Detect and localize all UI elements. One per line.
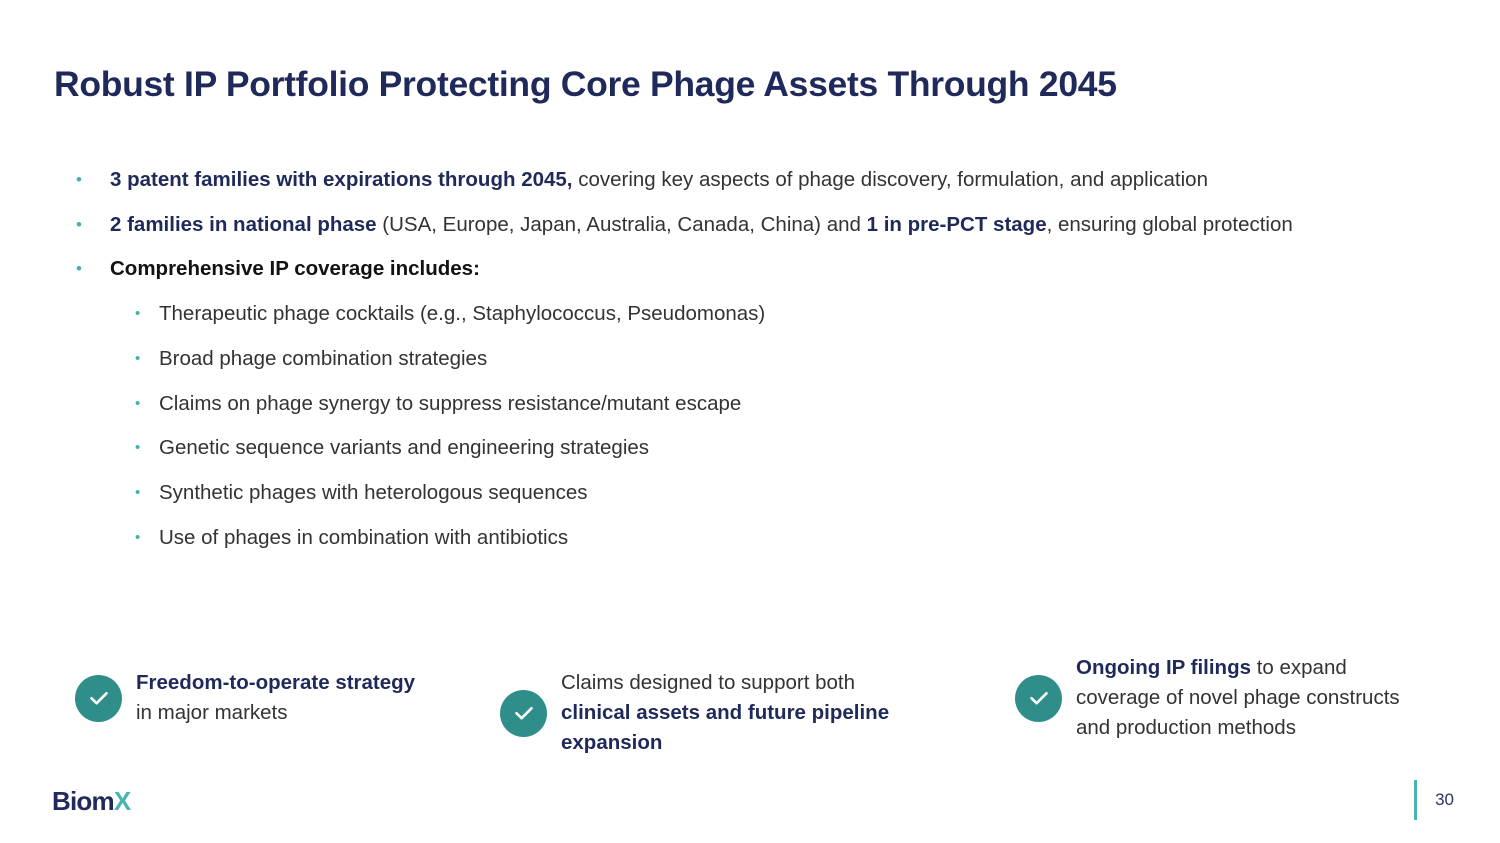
check-icon bbox=[500, 690, 547, 737]
sub-bullet-dot-icon: • bbox=[135, 426, 140, 471]
highlight-card-text: Claims designed to support both clinical… bbox=[561, 668, 900, 758]
bullet-2-mid: (USA, Europe, Japan, Australia, Canada, … bbox=[377, 213, 867, 236]
bullet-dot-icon: • bbox=[76, 158, 82, 203]
sub-bullet-label: Synthetic phages with heterologous seque… bbox=[159, 481, 588, 504]
check-icon bbox=[75, 675, 122, 722]
bullet-1-bold-lead: 3 patent families with expirations throu… bbox=[110, 168, 573, 191]
sub-bullet-item: • Broad phage combination strategies bbox=[70, 337, 1440, 382]
bullet-item-1: • 3 patent families with expirations thr… bbox=[70, 158, 1440, 203]
check-icon bbox=[1015, 675, 1062, 722]
logo-text-primary: Biom bbox=[52, 786, 114, 816]
highlight-card-claims-design: Claims designed to support both clinical… bbox=[500, 668, 900, 758]
slide-canvas: Robust IP Portfolio Protecting Core Phag… bbox=[0, 0, 1500, 843]
bullet-list: • 3 patent families with expirations thr… bbox=[70, 158, 1440, 560]
sub-bullet-label: Therapeutic phage cocktails (e.g., Staph… bbox=[159, 302, 765, 325]
bullet-2-tail-rest: , ensuring global protection bbox=[1047, 213, 1293, 236]
sub-bullet-label: Broad phage combination strategies bbox=[159, 347, 487, 370]
sub-bullet-item: • Claims on phage synergy to suppress re… bbox=[70, 382, 1440, 427]
bullet-dot-icon: • bbox=[76, 247, 82, 292]
bullet-item-3: • Comprehensive IP coverage includes: bbox=[70, 247, 1440, 292]
bullet-1-rest: covering key aspects of phage discovery,… bbox=[573, 168, 1208, 191]
card-3-bold-lead: Ongoing IP filings bbox=[1076, 656, 1251, 679]
highlight-card-text: Freedom-to-operate strategy in major mar… bbox=[136, 668, 435, 728]
sub-bullet-dot-icon: • bbox=[135, 337, 140, 382]
sub-bullet-list: • Therapeutic phage cocktails (e.g., Sta… bbox=[70, 292, 1440, 560]
sub-bullet-item: • Therapeutic phage cocktails (e.g., Sta… bbox=[70, 292, 1440, 337]
bullet-dot-icon: • bbox=[76, 203, 82, 248]
sub-bullet-label: Claims on phage synergy to suppress resi… bbox=[159, 392, 741, 415]
highlight-cards: Freedom-to-operate strategy in major mar… bbox=[70, 652, 1440, 782]
sub-bullet-dot-icon: • bbox=[135, 382, 140, 427]
bullet-2-bold-tail: 1 in pre-PCT stage bbox=[867, 213, 1047, 236]
page-title: Robust IP Portfolio Protecting Core Phag… bbox=[54, 63, 1454, 106]
sub-bullet-dot-icon: • bbox=[135, 516, 140, 561]
sub-bullet-item: • Synthetic phages with heterologous seq… bbox=[70, 471, 1440, 516]
highlight-card-text: Ongoing IP filings to expand coverage of… bbox=[1076, 653, 1435, 743]
sub-bullet-dot-icon: • bbox=[135, 292, 140, 337]
bullet-3-bold-lead: Comprehensive IP coverage includes: bbox=[110, 257, 480, 280]
sub-bullet-label: Use of phages in combination with antibi… bbox=[159, 526, 568, 549]
card-1-bold-lead: Freedom-to-operate strategy bbox=[136, 671, 415, 694]
page-number: 30 bbox=[1435, 790, 1454, 810]
logo-text-accent: X bbox=[114, 786, 131, 816]
page-number-group: 30 bbox=[1414, 780, 1454, 820]
sub-bullet-item: • Use of phages in combination with anti… bbox=[70, 516, 1440, 561]
bullet-item-2: • 2 families in national phase (USA, Eur… bbox=[70, 203, 1440, 248]
card-2-lead: Claims designed to support both bbox=[561, 671, 855, 694]
biomx-logo: BiomX bbox=[52, 786, 130, 817]
sub-bullet-dot-icon: • bbox=[135, 471, 140, 516]
card-1-rest: in major markets bbox=[136, 701, 288, 724]
card-2-bold-tail: clinical assets and future pipeline expa… bbox=[561, 701, 889, 754]
highlight-card-ongoing-filings: Ongoing IP filings to expand coverage of… bbox=[1015, 653, 1435, 743]
highlight-card-freedom-to-operate: Freedom-to-operate strategy in major mar… bbox=[75, 668, 435, 728]
sub-bullet-item: • Genetic sequence variants and engineer… bbox=[70, 426, 1440, 471]
page-number-divider bbox=[1414, 780, 1417, 820]
bullet-2-bold-lead: 2 families in national phase bbox=[110, 213, 377, 236]
sub-bullet-label: Genetic sequence variants and engineerin… bbox=[159, 436, 649, 459]
